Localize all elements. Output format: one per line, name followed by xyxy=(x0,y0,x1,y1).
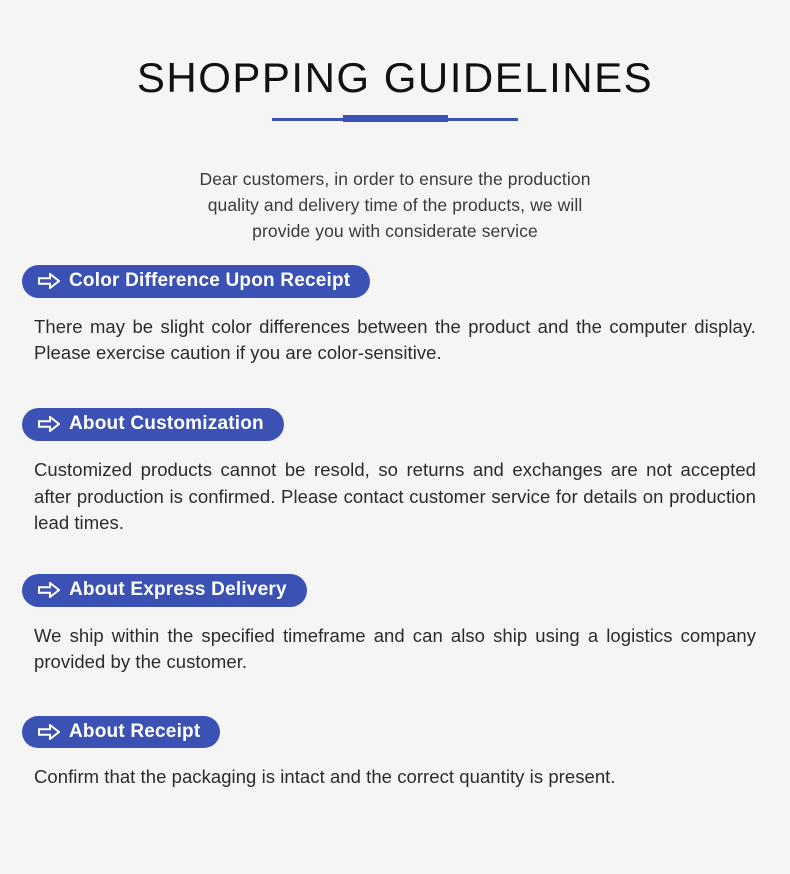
section-body-customization: Customized products cannot be resold, so… xyxy=(34,457,756,536)
intro-line-1: Dear customers, in order to ensure the p… xyxy=(130,167,660,193)
title-underline-thick xyxy=(343,115,448,122)
badge-color-difference[interactable]: Color Difference Upon Receipt xyxy=(22,265,370,298)
title-underline-decoration xyxy=(272,115,518,125)
badge-label: About Express Delivery xyxy=(69,580,287,600)
page-header: SHOPPING GUIDELINES xyxy=(0,0,790,125)
section-body-receipt: Confirm that the packaging is intact and… xyxy=(34,764,756,790)
section-spacer xyxy=(22,536,768,574)
intro-paragraph: Dear customers, in order to ensure the p… xyxy=(130,167,660,245)
intro-line-3: provide you with considerate service xyxy=(130,219,660,245)
badge-customization[interactable]: About Customization xyxy=(22,408,284,441)
section-spacer xyxy=(22,366,768,408)
badge-label: Color Difference Upon Receipt xyxy=(69,271,350,291)
page-title: SHOPPING GUIDELINES xyxy=(0,55,790,101)
shopping-guidelines-page: SHOPPING GUIDELINES Dear customers, in o… xyxy=(0,0,790,874)
section-body-express-delivery: We ship within the specified timeframe a… xyxy=(34,623,756,676)
badge-receipt[interactable]: About Receipt xyxy=(22,716,220,749)
badge-label: About Customization xyxy=(69,414,264,434)
badge-express-delivery[interactable]: About Express Delivery xyxy=(22,574,307,607)
intro-line-2: quality and delivery time of the product… xyxy=(130,193,660,219)
badge-label: About Receipt xyxy=(69,722,200,742)
arrow-right-icon xyxy=(38,273,60,289)
section-receipt: About Receipt Confirm that the packaging… xyxy=(22,716,768,791)
guidelines-sections: Color Difference Upon Receipt There may … xyxy=(0,265,790,791)
section-spacer xyxy=(22,676,768,716)
arrow-right-icon xyxy=(38,416,60,432)
section-customization: About Customization Customized products … xyxy=(22,408,768,536)
arrow-right-icon xyxy=(38,724,60,740)
section-express-delivery: About Express Delivery We ship within th… xyxy=(22,574,768,675)
arrow-right-icon xyxy=(38,582,60,598)
section-body-color-difference: There may be slight color differences be… xyxy=(34,314,756,367)
section-color-difference: Color Difference Upon Receipt There may … xyxy=(22,265,768,366)
